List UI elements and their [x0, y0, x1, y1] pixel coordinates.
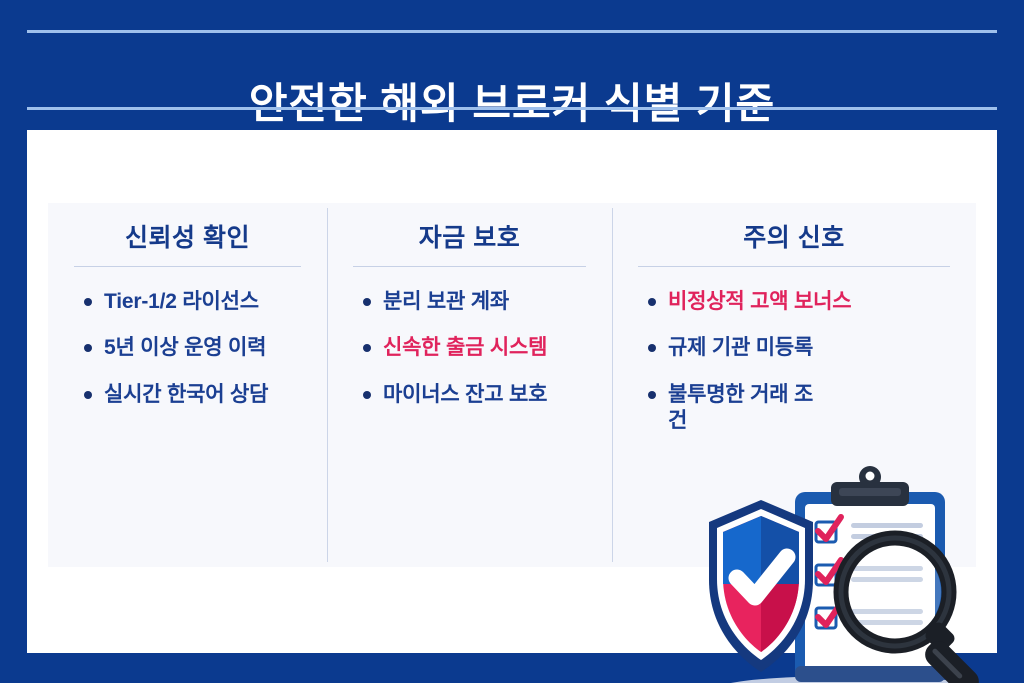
column-fund-protection: 자금 보호 분리 보관 계좌 신속한 출금 시스템 마이너스 잔고 보호: [327, 203, 612, 567]
column-1-heading: 신뢰성 확인: [70, 218, 305, 266]
column-3-heading-rule: [638, 266, 950, 267]
list-item: 비정상적 고액 보너스: [648, 289, 954, 315]
column-warning-signals: 주의 신호 비정상적 고액 보너스 규제 기관 미등록 불투명한 거래 조건: [612, 203, 976, 567]
infographic-canvas: 안전한 해외 브로커 식별 기준 신뢰성 확인 Tier-1/2 라이선스 5년…: [0, 0, 1024, 683]
list-item: Tier-1/2 라이선스: [84, 289, 305, 315]
column-trust-verification: 신뢰성 확인 Tier-1/2 라이선스 5년 이상 운영 이력 실시간 한국어…: [48, 203, 327, 567]
column-2-heading-rule: [353, 266, 586, 267]
column-2-heading: 자금 보호: [349, 218, 590, 266]
title-top-rule: [27, 30, 997, 33]
criteria-panel: 신뢰성 확인 Tier-1/2 라이선스 5년 이상 운영 이력 실시간 한국어…: [48, 203, 976, 567]
content-card: 신뢰성 확인 Tier-1/2 라이선스 5년 이상 운영 이력 실시간 한국어…: [27, 130, 997, 653]
title-bottom-rule: [27, 107, 997, 110]
list-item: 실시간 한국어 상담: [84, 382, 305, 408]
list-item: 5년 이상 운영 이력: [84, 335, 305, 361]
page-title: 안전한 해외 브로커 식별 기준: [27, 68, 997, 132]
column-1-list: Tier-1/2 라이선스 5년 이상 운영 이력 실시간 한국어 상담: [70, 289, 305, 408]
column-2-list: 분리 보관 계좌 신속한 출금 시스템 마이너스 잔고 보호: [349, 289, 590, 408]
column-1-heading-rule: [74, 266, 301, 267]
list-item: 신속한 출금 시스템: [363, 335, 590, 361]
column-3-list: 비정상적 고액 보너스 규제 기관 미등록 불투명한 거래 조건: [634, 289, 954, 434]
list-item: 불투명한 거래 조건: [648, 382, 818, 435]
column-3-heading: 주의 신호: [634, 218, 954, 266]
list-item: 마이너스 잔고 보호: [363, 382, 590, 408]
list-item: 규제 기관 미등록: [648, 335, 954, 361]
list-item: 분리 보관 계좌: [363, 289, 590, 315]
